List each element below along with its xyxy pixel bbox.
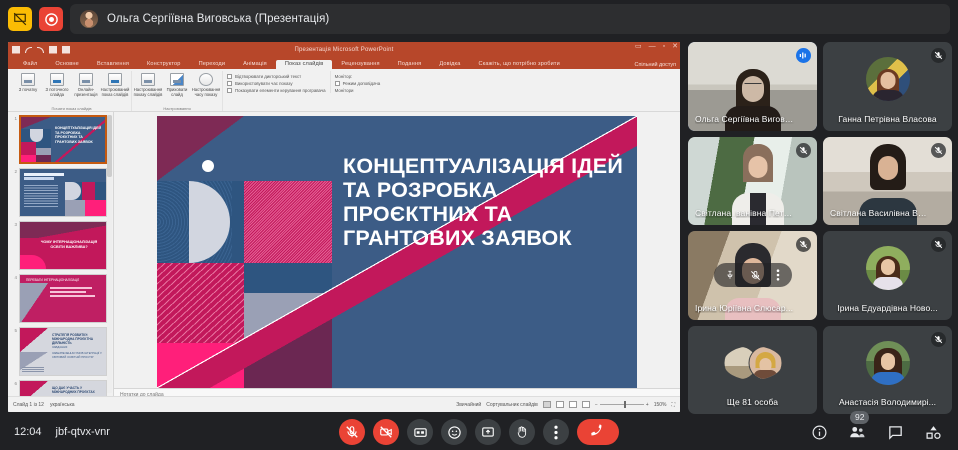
powerpoint-title-bar: Презентація Microsoft PowerPoint ▭ — ▫ ✕ [8, 42, 680, 57]
activities-button[interactable] [922, 421, 944, 443]
presenter-chip[interactable]: Ольга Сергіївна Виговська (Презентація) [70, 4, 950, 34]
participant-tile[interactable]: Ірина Юріївна Слюсар... [688, 231, 817, 320]
ribbon-group-label: Монітори [335, 88, 381, 93]
avatar [748, 346, 782, 380]
show-everyone-button[interactable]: 92 [846, 421, 868, 443]
from-beginning-icon [21, 73, 35, 86]
avatar [866, 57, 910, 101]
tile-hover-controls[interactable] [714, 263, 792, 287]
powerpoint-ribbon[interactable]: З початку З поточного слайда Онлайн-през… [8, 69, 680, 112]
powerpoint-document-title: Презентація Microsoft PowerPoint [8, 47, 680, 53]
view-normal-icon[interactable] [543, 401, 551, 408]
from-current-slide-icon [50, 73, 64, 86]
notes-toggle[interactable]: Звичайний [456, 402, 481, 408]
participant-tile[interactable]: Анастасія Володимирі... [823, 326, 952, 415]
avatar-group [723, 346, 782, 380]
window-buttons[interactable]: ▭ — ▫ ✕ [635, 43, 678, 50]
tab-design[interactable]: Конструктор [138, 60, 190, 69]
muted-icon [931, 332, 946, 347]
tab-transitions[interactable]: Переходи [190, 60, 235, 69]
microphone-off-button[interactable] [339, 419, 365, 445]
ribbon-rehearse-timings[interactable]: Настроювання часу показу [193, 71, 219, 97]
bottom-bar: 12:04 jbf-qtvx-vnr [0, 414, 958, 450]
camera-off-button[interactable] [373, 419, 399, 445]
reactions-button[interactable] [441, 419, 467, 445]
tab-view[interactable]: Подання [389, 60, 431, 69]
powerpoint-work-area: 1 КОНЦЕПТУАЛІЗАЦІЯ [8, 112, 680, 396]
save-icon[interactable] [12, 46, 20, 54]
ribbon-hide-slide[interactable]: Приховати слайд [164, 71, 190, 97]
shared-screen-powerpoint[interactable]: Презентація Microsoft PowerPoint ▭ — ▫ ✕… [8, 42, 680, 412]
check-show-media-controls[interactable]: Показувати елементи керування програвача [227, 88, 326, 93]
clock: 12:04 [14, 426, 42, 438]
call-controls [339, 419, 619, 445]
slide-thumbnail[interactable]: 2 [11, 168, 111, 217]
zoom-out-icon[interactable]: − [595, 402, 598, 408]
slide-thumbnail[interactable]: 6 ЩО ДАЄ УЧАСТЬ У МІЖНАРОДНИХ ПРОЄКТАХ [11, 380, 111, 396]
right-controls: 92 [808, 421, 944, 443]
rehearse-timings-icon [199, 73, 213, 86]
participant-tile[interactable]: Ірина Едуардівна Ново... [823, 231, 952, 320]
tell-me-search[interactable]: Скажіть, що потрібно зробити [469, 60, 568, 69]
check-use-timings[interactable]: Використовувати час показу [227, 81, 326, 86]
current-slide[interactable]: КОНЦЕПТУАЛІЗАЦІЯ ІДЕЙ ТА РОЗРОБКА ПРОЄКТ… [157, 116, 637, 388]
slide-thumbnail-pane[interactable]: 1 КОНЦЕПТУАЛІЗАЦІЯ [8, 112, 114, 396]
raise-hand-button[interactable] [509, 419, 535, 445]
slide-title[interactable]: КОНЦЕПТУАЛІЗАЦІЯ ІДЕЙ ТА РОЗРОБКА ПРОЄКТ… [343, 154, 623, 250]
ribbon-group-label: Почати показ слайдів [52, 106, 92, 111]
set-up-show-icon [141, 73, 155, 86]
checkbox-icon[interactable] [227, 88, 232, 93]
tab-help[interactable]: Довідка [430, 60, 469, 69]
ribbon-group-monitors[interactable]: Монітор: Режим доповідача Монітори [330, 71, 385, 93]
meeting-details-button[interactable] [808, 421, 830, 443]
custom-slide-show-icon [108, 73, 122, 86]
leave-call-button[interactable] [577, 419, 619, 445]
ribbon-check-options[interactable]: Відтворювати дикторський текст Використо… [223, 71, 330, 93]
ribbon-group-set-up: Настроювання показу слайдів Приховати сл… [132, 71, 223, 111]
quick-access-toolbar[interactable] [8, 46, 70, 54]
check-play-narrations[interactable]: Відтворювати дикторський текст [227, 74, 326, 79]
check-presenter-view[interactable]: Режим доповідача [335, 81, 381, 86]
slide-thumbnail[interactable]: 1 КОНЦЕПТУАЛІЗАЦІЯ [11, 115, 111, 164]
slide-number-status: Слайд 1 із 12 [13, 402, 44, 408]
participant-grid: Ольга Сергіївна Вигове... Ганна Петрівна… [688, 42, 952, 414]
meeting-code[interactable]: jbf-qtvx-vnr [56, 426, 110, 438]
ribbon-display-options-button[interactable]: ▭ [635, 43, 642, 50]
checkbox-icon[interactable] [227, 74, 232, 79]
presenter-avatar [80, 10, 98, 28]
monitor-selector[interactable]: Монітор: [335, 74, 381, 79]
record-icon[interactable] [39, 7, 63, 31]
mute-participant-icon[interactable] [750, 270, 761, 281]
thumbnail-image: ПЕРЕВАГИ ІНТЕРНАЦІОНАЛІЗАЦІЇ [19, 274, 107, 323]
customize-icon[interactable] [62, 46, 70, 54]
slide-dot-accent [202, 160, 214, 172]
muted-icon [931, 48, 946, 63]
screen-share-off-icon[interactable] [8, 7, 32, 31]
participant-name: Ірина Юріївна Слюсар... [695, 303, 795, 313]
meeting-meta: 12:04 jbf-qtvx-vnr [14, 426, 110, 438]
ribbon-from-current-slide[interactable]: З поточного слайда [44, 71, 70, 97]
tab-animations[interactable]: Анімація [234, 60, 276, 69]
view-slide-show-icon[interactable] [582, 401, 590, 408]
participant-tile[interactable]: Ольга Сергіївна Вигове... [688, 42, 817, 131]
pin-icon[interactable] [725, 270, 735, 280]
powerpoint-status-bar: Слайд 1 із 12 українська Звичайний Сорту… [8, 396, 680, 412]
ribbon-custom-slide-show[interactable]: Настроюваний показ слайдів [102, 71, 128, 97]
zoom-slider[interactable]: − + [595, 402, 649, 408]
muted-icon [796, 237, 811, 252]
view-slide-sorter-icon[interactable] [556, 401, 564, 408]
thumbnail-scrollbar[interactable] [107, 115, 112, 393]
thumbnail-image: ЩО ДАЄ УЧАСТЬ У МІЖНАРОДНИХ ПРОЄКТАХ [19, 380, 107, 396]
participant-tile[interactable]: Ганна Петрівна Власова [823, 42, 952, 131]
participant-tile[interactable]: Світлана_ванівна Петр... [688, 137, 817, 226]
undo-icon[interactable] [25, 47, 32, 53]
more-options-button[interactable] [543, 419, 569, 445]
tab-review[interactable]: Рецензування [332, 60, 388, 69]
tab-insert[interactable]: Вставлення [88, 60, 138, 69]
participant-name: Світлана Василівна Ва... [830, 208, 930, 218]
participant-name: Ольга Сергіївна Вигове... [695, 114, 795, 124]
redo-icon[interactable] [37, 47, 44, 53]
ribbon-group-label: Настроювання [163, 106, 190, 111]
participant-tile[interactable]: Світлана Василівна Ва... [823, 137, 952, 226]
ribbon-present-online[interactable]: Онлайн-презентація [73, 71, 99, 97]
google-meet-window: Ольга Сергіївна Виговська (Презентація) … [0, 0, 958, 450]
view-reading-icon[interactable] [569, 401, 577, 408]
present-icon[interactable] [49, 46, 57, 54]
participant-name: Ганна Петрівна Власова [823, 114, 952, 124]
muted-icon [796, 143, 811, 158]
muted-icon [931, 237, 946, 252]
participant-count-badge: 92 [850, 411, 869, 424]
muted-icon [931, 143, 946, 158]
participant-name: Ще 81 особа [688, 397, 817, 407]
restore-button[interactable]: ▫ [663, 43, 665, 50]
share-button[interactable]: Спільний доступ [635, 62, 676, 68]
thumbnail-image: ЧОМУ ІНТЕРНАЦІОНАЛІЗАЦІЯ ОСВІТИ ВАЖЛИВА? [19, 221, 107, 270]
zoom-level[interactable]: 150% [654, 402, 667, 408]
language-status[interactable]: українська [50, 402, 75, 408]
ribbon-group-start-slide-show: З початку З поточного слайда Онлайн-през… [12, 71, 132, 111]
speaking-indicator-icon [796, 48, 811, 63]
captions-button[interactable] [407, 419, 433, 445]
slide-thumbnail[interactable]: 3 ЧОМУ ІНТЕРНАЦІОНАЛІЗАЦІЯ ОСВІТИ ВАЖЛИВ… [11, 221, 111, 270]
thumbnail-image [19, 168, 107, 217]
minimize-button[interactable]: — [649, 43, 656, 50]
comments-toggle[interactable]: Сортувальник слайдів [486, 402, 538, 408]
participant-name: Анастасія Володимирі... [823, 397, 952, 407]
tab-file[interactable]: Файл [14, 60, 46, 69]
avatar [866, 341, 910, 385]
slide-canvas[interactable]: КОНЦЕПТУАЛІЗАЦІЯ ІДЕЙ ТА РОЗРОБКА ПРОЄКТ… [114, 112, 680, 388]
powerpoint-ribbon-tabs[interactable]: Файл Основне Вставлення Конструктор Пере… [8, 57, 680, 69]
slide-thumbnail[interactable]: 4 ПЕРЕВАГИ ІНТЕРНАЦІОНАЛІЗАЦІЇ [11, 274, 111, 323]
tab-slide-show[interactable]: Показ слайдів [276, 60, 333, 69]
zoom-in-icon[interactable]: + [646, 402, 649, 408]
ribbon-set-up-show[interactable]: Настроювання показу слайдів [135, 71, 161, 97]
fit-to-window-icon[interactable]: ⛶ [671, 402, 675, 408]
ribbon-from-beginning[interactable]: З початку [15, 71, 41, 92]
present-online-icon [79, 73, 93, 86]
close-button[interactable]: ✕ [672, 43, 678, 50]
tab-home[interactable]: Основне [46, 60, 88, 69]
participant-name: Світлана_ванівна Петр... [695, 208, 795, 218]
checkbox-icon[interactable] [227, 81, 232, 86]
chat-button[interactable] [884, 421, 906, 443]
slide-editor[interactable]: КОНЦЕПТУАЛІЗАЦІЯ ІДЕЙ ТА РОЗРОБКА ПРОЄКТ… [114, 112, 680, 396]
avatar [866, 246, 910, 290]
hide-slide-icon [170, 73, 184, 86]
scrollbar-thumb[interactable] [107, 115, 112, 177]
top-bar: Ольга Сергіївна Виговська (Презентація) [0, 0, 958, 38]
participant-overflow-tile[interactable]: Ще 81 особа [688, 326, 817, 415]
thumbnail-image: КОНЦЕПТУАЛІЗАЦІЯ ІДЕЙ ТА РОЗРОБКА ПРОЄКТ… [19, 115, 107, 164]
slide-thumbnail[interactable]: 5 СТРАТЕГІЯ РОЗВИТКУ: МІЖНАРОДНА ПРОЄКТН… [11, 327, 111, 376]
more-options-icon[interactable] [776, 269, 780, 281]
status-right-cluster[interactable]: Звичайний Сортувальник слайдів − + 150% … [456, 401, 675, 408]
participant-name: Ірина Едуардівна Ново... [823, 303, 952, 313]
present-now-button[interactable] [475, 419, 501, 445]
thumbnail-image: СТРАТЕГІЯ РОЗВИТКУ: МІЖНАРОДНА ПРОЄКТНА … [19, 327, 107, 376]
zoom-track[interactable] [600, 404, 644, 405]
checkbox-icon[interactable] [335, 81, 340, 86]
presenter-name: Ольга Сергіївна Виговська (Презентація) [107, 13, 329, 25]
